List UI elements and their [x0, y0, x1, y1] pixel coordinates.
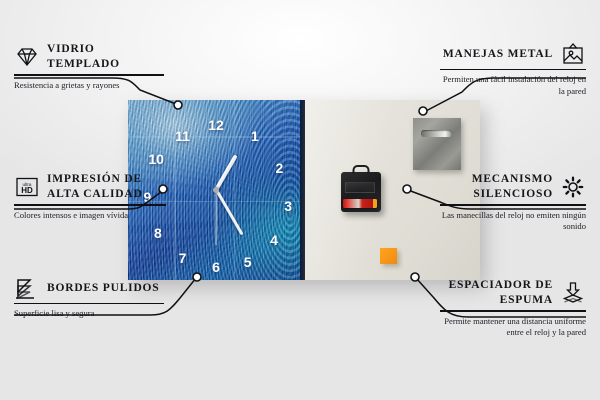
gear-icon — [560, 175, 586, 199]
mechanism-hanging-loop — [352, 165, 369, 174]
clock-numeral: 11 — [175, 129, 190, 143]
callout-title: MANEJAS METAL — [443, 47, 553, 62]
ultra-hd-icon: ultra HD — [14, 175, 40, 199]
clock-numeral: 8 — [154, 226, 162, 240]
callout-description: Superficie lisa y segura — [14, 308, 164, 320]
metal-hanger-plate — [413, 118, 461, 170]
foam-spacer-arrow-icon — [560, 281, 586, 305]
clock-numeral: 2 — [275, 161, 283, 175]
callout-manejas-metal[interactable]: MANEJAS METAL Permiten una fácil instala… — [440, 42, 586, 97]
callout-description: Resistencia a grietas y rayones — [14, 80, 164, 92]
callout-description: Permite mantener una distancia uniforme … — [440, 316, 586, 339]
callout-rule — [440, 69, 586, 70]
callout-title: ESPACIADOR DE ESPUMA — [440, 278, 553, 307]
callout-title: VIDRIO TEMPLADO — [47, 42, 164, 71]
clock-numeral: 3 — [284, 199, 292, 213]
clock-second-hand — [215, 190, 216, 246]
product-image: 12 1 2 3 4 5 6 7 8 9 10 11 — [128, 100, 480, 280]
infographic-canvas: 12 1 2 3 4 5 6 7 8 9 10 11 — [0, 0, 600, 400]
panel-seam — [300, 100, 305, 280]
clock-numeral: 10 — [148, 152, 164, 166]
clock-numeral: 4 — [270, 233, 278, 247]
clock-hour-hand — [214, 154, 237, 191]
foam-spacer-pad — [380, 248, 397, 264]
callout-bordes-pulidos[interactable]: BORDES PULIDOS Superficie lisa y segura — [14, 276, 164, 320]
clock: 12 1 2 3 4 5 6 7 8 9 10 11 — [128, 100, 304, 280]
callout-description: Permiten una fácil instalación del reloj… — [440, 74, 586, 97]
clock-numeral: 12 — [208, 118, 224, 132]
clock-numeral: 9 — [143, 190, 151, 204]
clock-face-panel: 12 1 2 3 4 5 6 7 8 9 10 11 — [128, 100, 304, 280]
callout-rule — [14, 74, 164, 75]
aa-battery — [343, 199, 377, 208]
callout-description: Las manecillas del reloj no emiten ningú… — [440, 210, 586, 233]
clock-numeral: 7 — [179, 251, 187, 265]
callout-mecanismo-silencioso[interactable]: MECANISMO SILENCIOSO Las manecillas del … — [440, 172, 586, 233]
svg-text:HD: HD — [21, 186, 33, 195]
callout-vidrio-templado[interactable]: VIDRIO TEMPLADO Resistencia a grietas y … — [14, 42, 164, 91]
callout-rule — [440, 310, 586, 311]
callout-rule — [14, 303, 164, 304]
callout-title: MECANISMO SILENCIOSO — [440, 172, 553, 201]
callout-espaciador-espuma[interactable]: ESPACIADOR DE ESPUMA Permite mantener un… — [440, 278, 586, 339]
clock-numeral: 6 — [212, 260, 220, 274]
callout-rule — [440, 204, 586, 205]
polished-edges-icon — [14, 276, 40, 300]
callout-title: BORDES PULIDOS — [47, 281, 160, 296]
diamond-icon — [14, 45, 40, 69]
clock-numeral: 1 — [251, 129, 259, 143]
mechanism-detail — [345, 182, 375, 192]
picture-frame-hanging-icon — [560, 42, 586, 66]
clock-minute-hand — [215, 189, 244, 236]
clock-mechanism — [341, 172, 381, 212]
clock-center-hub — [213, 187, 219, 193]
clock-numeral: 5 — [244, 255, 252, 269]
